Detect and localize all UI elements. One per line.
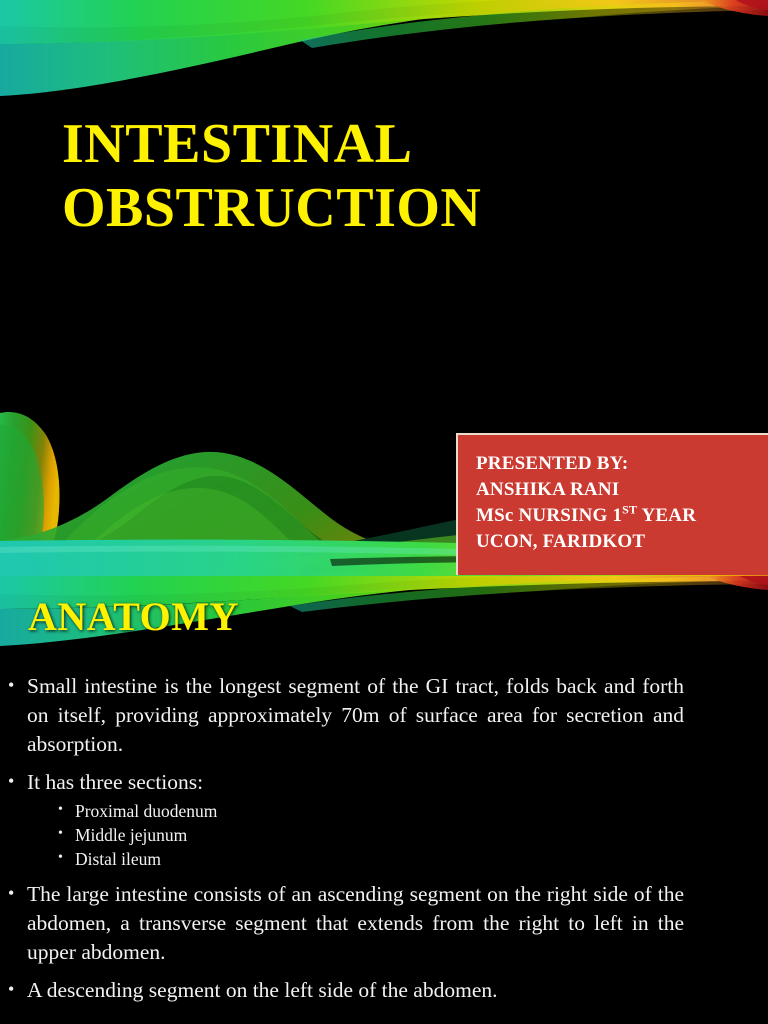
- presenter-line-0: PRESENTED BY:: [476, 451, 768, 477]
- presenter-ordinal-suffix: ST: [622, 503, 637, 517]
- presenter-course-pre: MSc NURSING 1: [476, 505, 622, 526]
- sub-bullet-item: Proximal duodenum: [45, 799, 748, 823]
- bullet-item: It has three sections: Proximal duodenum…: [0, 768, 768, 871]
- anatomy-body-content: Small intestine is the longest segment o…: [0, 672, 768, 1014]
- bullet-item: A descending segment on the left side of…: [0, 976, 768, 1005]
- presenter-line-3: UCON, FARIDKOT: [476, 529, 768, 555]
- slide-title: INTESTINAL OBSTRUCTION: [0, 0, 768, 576]
- bullet-item: Small intestine is the longest segment o…: [0, 672, 768, 759]
- title-line-2: OBSTRUCTION: [62, 176, 702, 240]
- bullet-item: The large intestine consists of an ascen…: [0, 880, 768, 967]
- anatomy-sub-bullet-list: Proximal duodenum Middle jejunum Distal …: [27, 799, 748, 871]
- anatomy-bullet-list: Small intestine is the longest segment o…: [0, 672, 768, 1005]
- title-line-1: INTESTINAL: [62, 112, 702, 176]
- presenter-line-1: ANSHIKA RANI: [476, 477, 768, 503]
- sub-bullet-item: Middle jejunum: [45, 823, 748, 847]
- presenter-course-post: YEAR: [637, 505, 696, 526]
- slide-anatomy: ANATOMY Small intestine is the longest s…: [0, 576, 768, 1024]
- bullet-text: It has three sections:: [27, 768, 748, 797]
- bullet-text: Small intestine is the longest segment o…: [27, 672, 684, 759]
- top-decorative-wave: [0, 0, 768, 110]
- presenter-info-box: PRESENTED BY: ANSHIKA RANI MSc NURSING 1…: [456, 433, 768, 575]
- section-heading-anatomy: ANATOMY: [28, 594, 239, 640]
- presenter-line-2: MSc NURSING 1ST YEAR: [476, 503, 768, 529]
- slide-title-block: INTESTINAL OBSTRUCTION: [62, 112, 702, 240]
- sub-bullet-item: Distal ileum: [45, 847, 748, 871]
- top-wave-graphic: [0, 0, 768, 110]
- presentation-page: INTESTINAL OBSTRUCTION: [0, 0, 768, 1024]
- bullet-text: A descending segment on the left side of…: [27, 976, 748, 1005]
- bullet-text: The large intestine consists of an ascen…: [27, 880, 684, 967]
